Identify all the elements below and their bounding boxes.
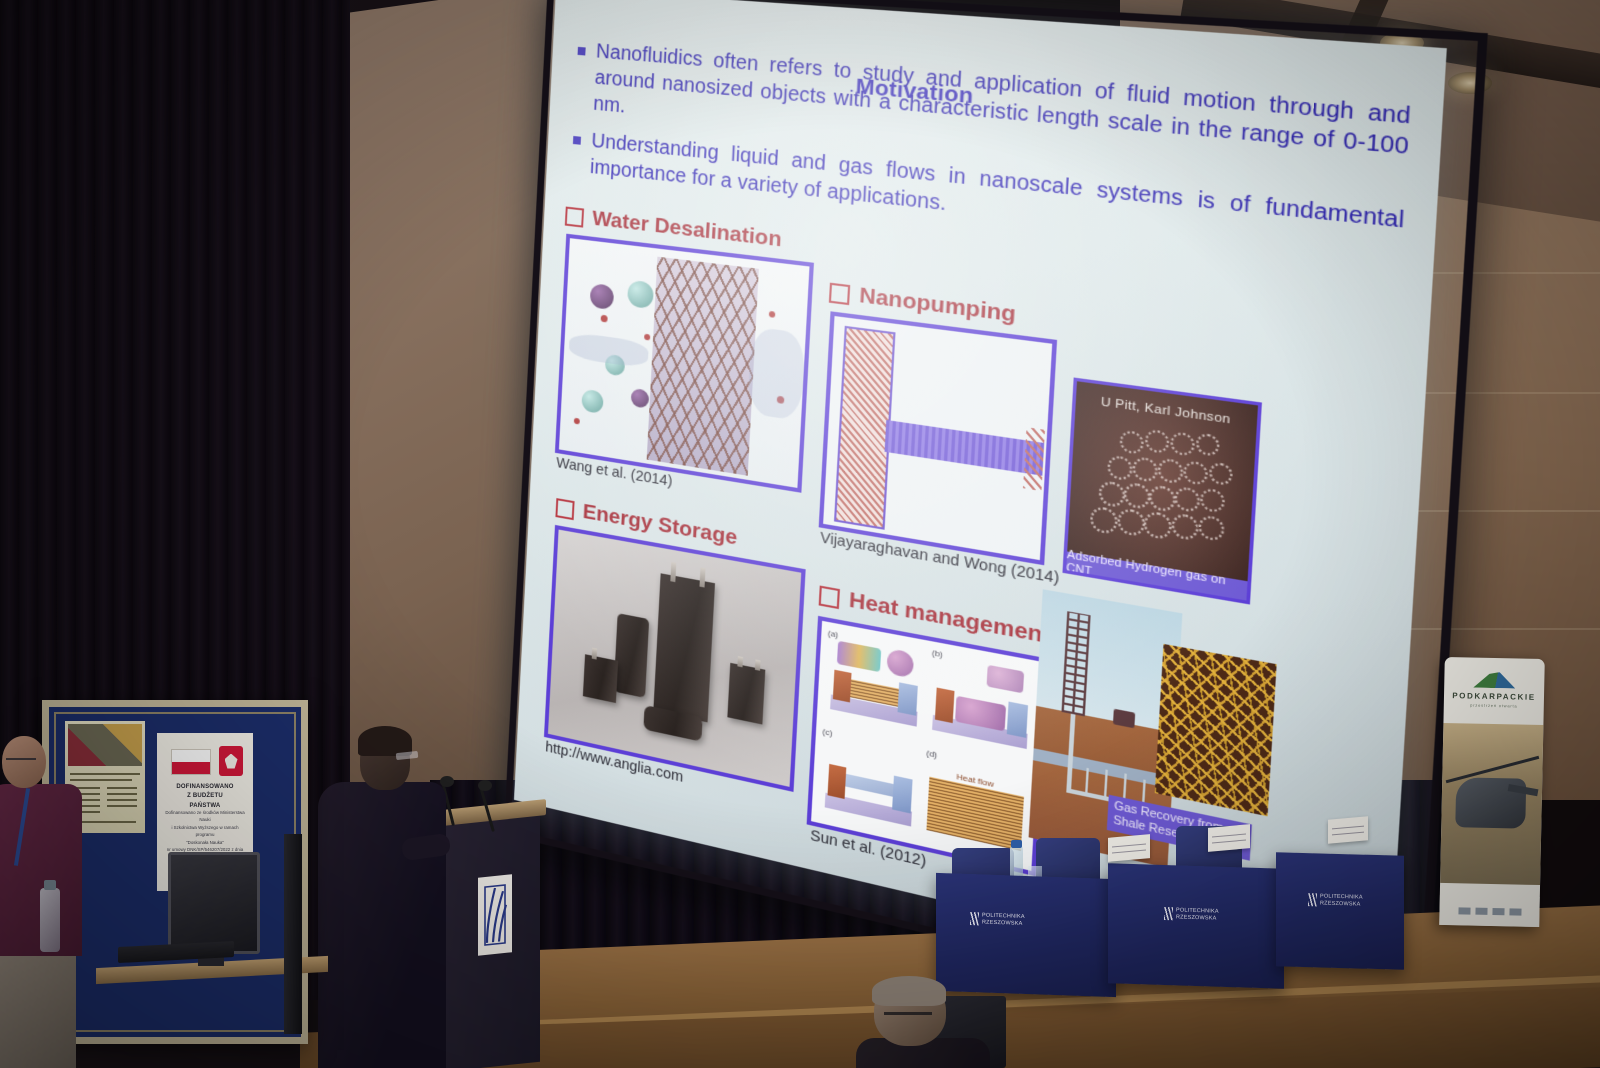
water-molecule: [769, 311, 776, 318]
nanotube-bundle-diagram: [837, 641, 881, 672]
attendee-left: [0, 736, 86, 1068]
supercapacitor: [654, 573, 715, 722]
nanotube-cross-section: [886, 648, 914, 678]
panel-table: POLITECHNIKA RZESZOWSKA: [936, 873, 1116, 997]
image-adsorbed-hydrogen-cnt: U Pitt, Karl Johnson: [1062, 377, 1261, 604]
banner-photo: [1440, 723, 1543, 885]
panel-table: POLITECHNIKA RZESZOWSKA: [1108, 863, 1284, 989]
checkbox-square-icon: [819, 585, 840, 609]
logo-line2: RZESZOWSKA: [1320, 900, 1361, 907]
av-equipment-pole: [284, 834, 302, 1034]
bullet-square-icon: [578, 47, 586, 56]
checkbox-square-icon: [565, 206, 584, 227]
podkarpackie-banner: PODKARPACKIE przestrzeń otwarta: [1439, 657, 1545, 927]
bottle-cap: [1011, 840, 1022, 848]
water-molecule: [600, 315, 607, 323]
politechnika-mark-icon: [1308, 893, 1317, 906]
ion-chloride: [582, 389, 604, 414]
image-water-desalination: [555, 234, 814, 493]
microphone-head-icon: [478, 780, 492, 791]
logo-line2: RZESZOWSKA: [1176, 914, 1217, 921]
conference-room-photo: Motivation Nanofluidics often refers to …: [0, 0, 1600, 1068]
panel-label-d: (d): [926, 748, 937, 760]
supercapacitor: [583, 655, 618, 703]
foreground-glasses: [884, 1012, 932, 1022]
politechnika-logo-icon: [482, 883, 508, 948]
water-molecule: [644, 333, 650, 340]
checkbox-square-icon: [829, 282, 850, 304]
cnt-caption-band: Adsorbed Hydrogen gas on CNT: [1066, 551, 1247, 600]
av-monitor: [168, 852, 260, 954]
name-card: [1328, 816, 1368, 843]
ion-sodium: [631, 388, 650, 409]
presenter-body: [318, 782, 446, 1068]
hill-logo-icon: [1473, 672, 1515, 689]
graphene-membrane: [647, 257, 759, 475]
banner-logo: PODKARPACKIE przestrzeń otwarta: [1444, 671, 1545, 709]
carbon-nanotube: [884, 420, 1044, 475]
poster-title: DOFINANSOWANO Z BUDŻETU PAŃSTWA: [157, 783, 253, 811]
banner-sponsor-strip: [1439, 895, 1540, 927]
foreground-attendee: [860, 980, 980, 1068]
supercapacitor: [727, 663, 765, 725]
ejected-particles: [1024, 427, 1045, 490]
politechnika-mark-icon: [1164, 907, 1173, 920]
attendee-legs: [0, 950, 76, 1068]
politechnika-mark-icon: [970, 912, 979, 925]
name-card: [1108, 834, 1150, 862]
university-logo: POLITECHNIKA RZESZOWSKA: [1308, 893, 1363, 908]
cnt-source-label: U Pitt, Karl Johnson: [1076, 393, 1258, 431]
panel-label-a: (a): [828, 628, 839, 639]
attendee-glasses: [6, 758, 36, 766]
polish-emblem-icon: [219, 746, 243, 776]
university-logo: POLITECHNIKA RZESZOWSKA: [970, 912, 1025, 928]
image-nanopumping: [819, 311, 1057, 565]
water-bottle-held: [40, 888, 60, 952]
presenter-glasses: [396, 751, 419, 760]
ion-chloride: [627, 280, 654, 310]
panel-table: POLITECHNIKA RZESZOWSKA: [1276, 852, 1404, 970]
slide-bullet-list: Nanofluidics often refers to study and a…: [571, 38, 1412, 280]
polish-flag-icon: [171, 749, 211, 775]
bullet-square-icon: [573, 136, 581, 145]
image-fiber-network: [1155, 644, 1277, 816]
checkbox-square-icon: [555, 498, 574, 520]
podium-logo: [478, 874, 512, 956]
presenter: [318, 726, 450, 1068]
panel-label-c: (c): [822, 727, 832, 738]
ion-sodium: [589, 283, 614, 310]
water-spray: [568, 332, 648, 369]
foreground-hair: [872, 976, 946, 1006]
bottle-cap: [44, 880, 56, 890]
university-logo: POLITECHNIKA RZESZOWSKA: [1164, 907, 1219, 922]
name-card: [1208, 824, 1250, 852]
ceiling-downlight: [1448, 72, 1492, 94]
water-spray: [746, 326, 805, 422]
supercapacitor: [614, 613, 649, 698]
panel-label-b: (b): [932, 648, 943, 660]
logo-line2: RZESZOWSKA: [982, 919, 1023, 926]
water-molecule: [574, 418, 580, 425]
banner-name: PODKARPACKIE: [1444, 691, 1544, 702]
banner-tagline: przestrzeń otwarta: [1444, 702, 1544, 709]
